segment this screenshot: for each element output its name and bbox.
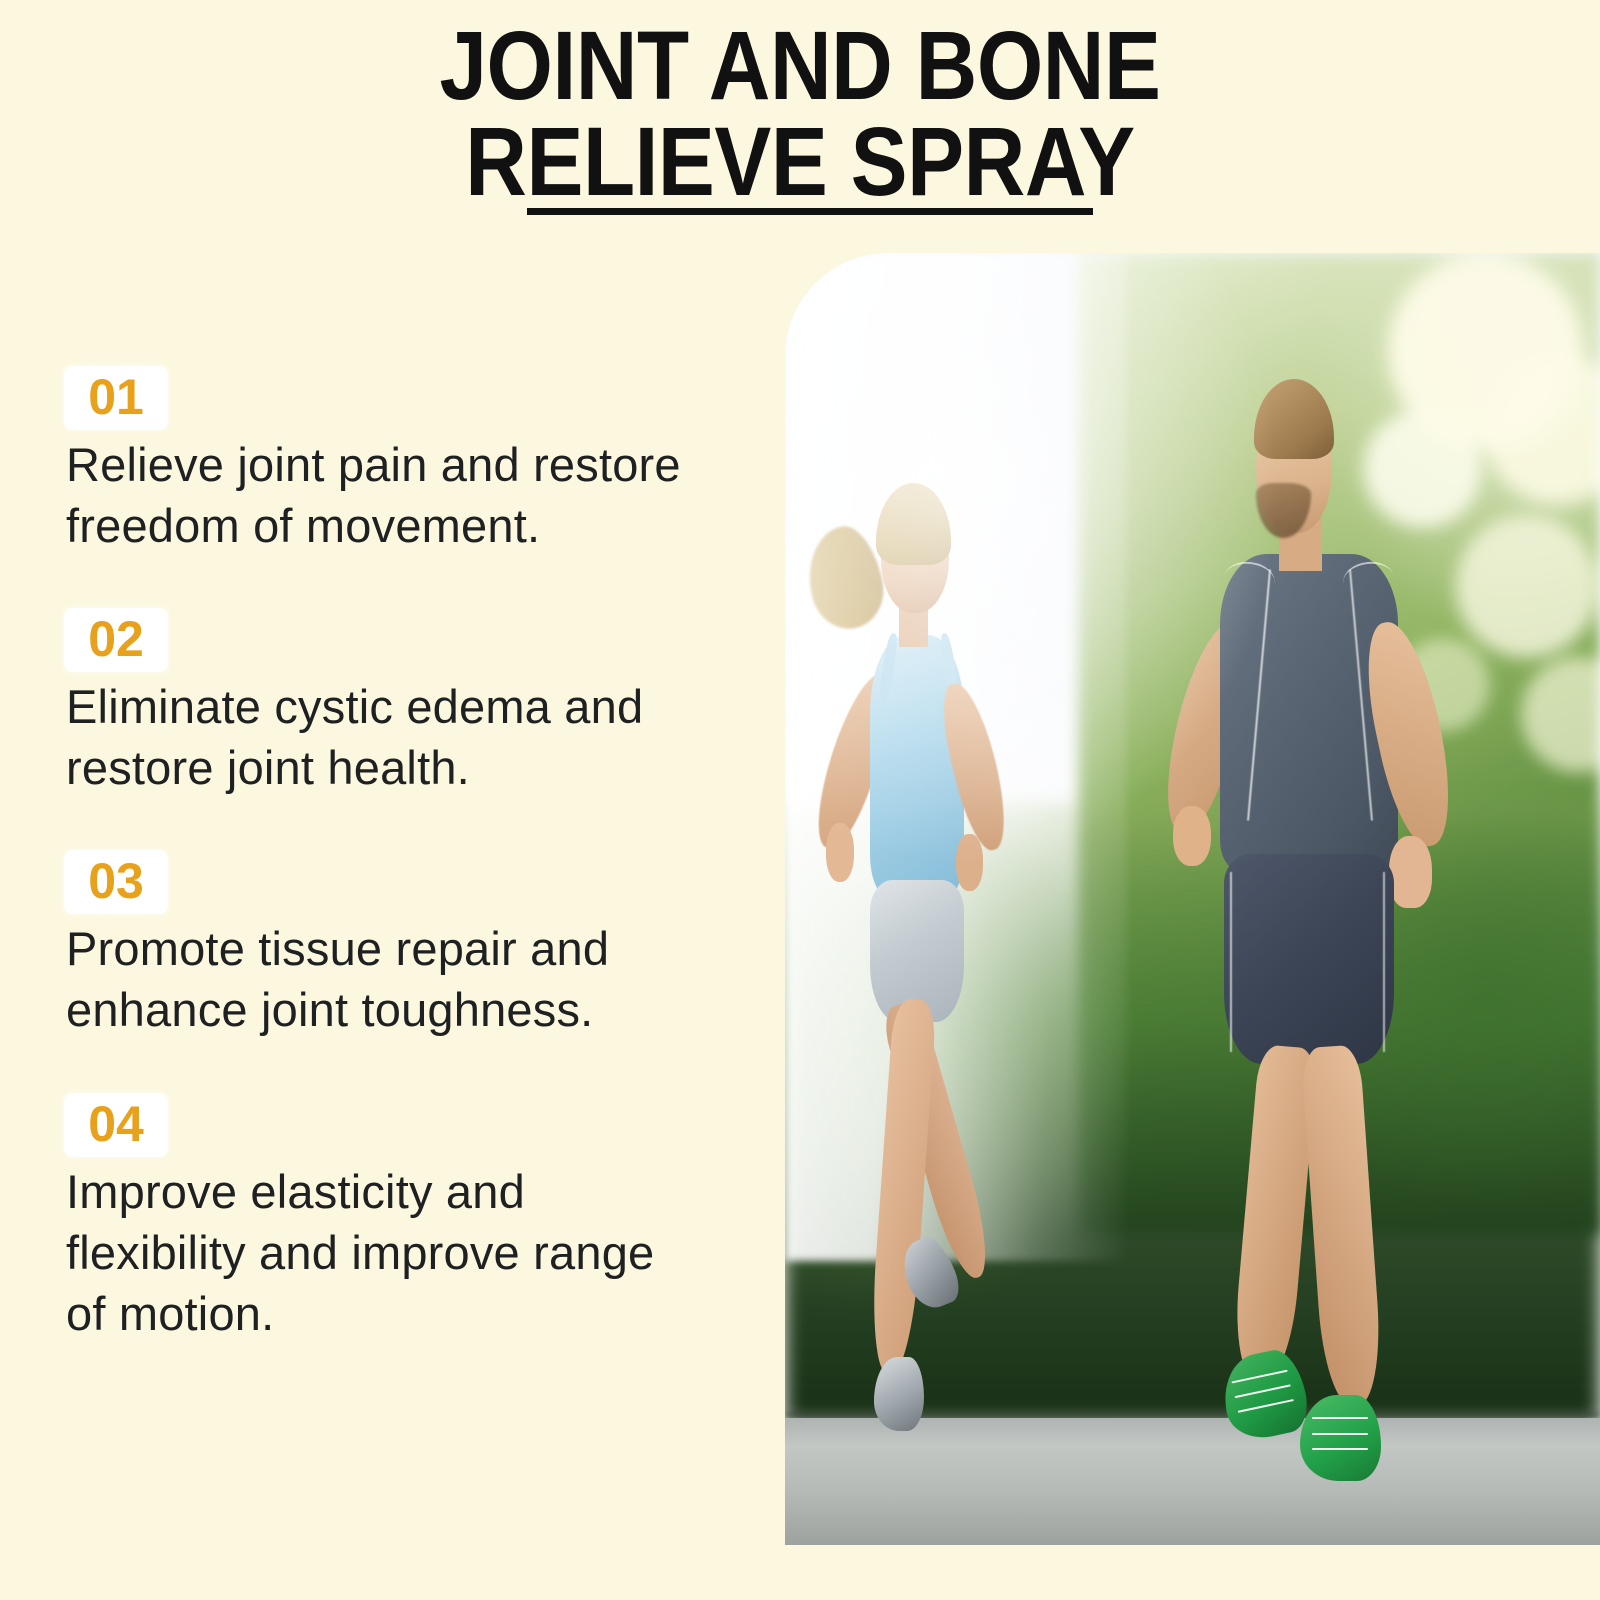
woman-front-leg — [868, 998, 937, 1375]
man-shorts-piping-right — [1383, 872, 1385, 1052]
man-shorts-piping-left — [1230, 872, 1232, 1052]
man-hair — [1254, 379, 1335, 458]
feature-text: Promote tissue repair and enhance joint … — [66, 918, 696, 1040]
status-badge: 03 — [64, 850, 168, 914]
woman-left-fist — [826, 823, 855, 882]
man-right-leg — [1301, 1045, 1385, 1409]
man-right-hand — [1389, 836, 1431, 908]
status-badge: 01 — [64, 366, 168, 430]
feature-number: 03 — [88, 853, 144, 909]
feature-number: 01 — [88, 369, 144, 425]
shoelace — [1312, 1433, 1368, 1435]
woman-hair — [876, 483, 951, 565]
list-item: 01 Relieve joint pain and restore freedo… — [0, 366, 740, 556]
list-item: 02 Eliminate cystic edema and restore jo… — [0, 608, 740, 798]
man-compression-shirt — [1220, 554, 1398, 872]
title-line-1: JOINT AND BONE — [96, 18, 1504, 114]
page-title: JOINT AND BONE RELIEVE SPRAY — [0, 18, 1600, 210]
man-right-shoe — [1300, 1395, 1381, 1482]
man-shorts — [1224, 854, 1394, 1064]
shoelace — [1232, 1369, 1288, 1383]
shoelace — [1238, 1399, 1294, 1413]
status-badge: 02 — [64, 608, 168, 672]
feature-text: Improve elasticity and flexibility and i… — [66, 1161, 696, 1344]
man-left-shoe — [1216, 1345, 1312, 1444]
list-item: 04 Improve elasticity and flexibility an… — [0, 1093, 740, 1344]
shoelace — [1312, 1448, 1368, 1450]
woman-front-shoe — [874, 1357, 924, 1431]
man-left-fist — [1173, 806, 1211, 866]
list-item: 03 Promote tissue repair and enhance joi… — [0, 850, 740, 1040]
status-badge: 04 — [64, 1093, 168, 1157]
feature-number: 04 — [88, 1096, 144, 1152]
lifestyle-photo — [785, 253, 1600, 1545]
feature-text: Relieve joint pain and restore freedom o… — [66, 434, 696, 556]
product-feature-poster: JOINT AND BONE RELIEVE SPRAY 01 Relieve … — [0, 0, 1600, 1600]
feature-number: 02 — [88, 611, 144, 667]
man-runner-figure — [1144, 343, 1568, 1545]
woman-runner-figure — [809, 408, 1168, 1545]
feature-text: Eliminate cystic edema and restore joint… — [66, 676, 696, 798]
shoelace — [1235, 1384, 1291, 1398]
shoelace — [1312, 1417, 1368, 1419]
feature-list: 01 Relieve joint pain and restore freedo… — [0, 366, 740, 1344]
title-line-2: RELIEVE SPRAY — [96, 114, 1504, 210]
woman-right-fist — [956, 834, 983, 891]
title-underline-divider — [527, 208, 1093, 215]
